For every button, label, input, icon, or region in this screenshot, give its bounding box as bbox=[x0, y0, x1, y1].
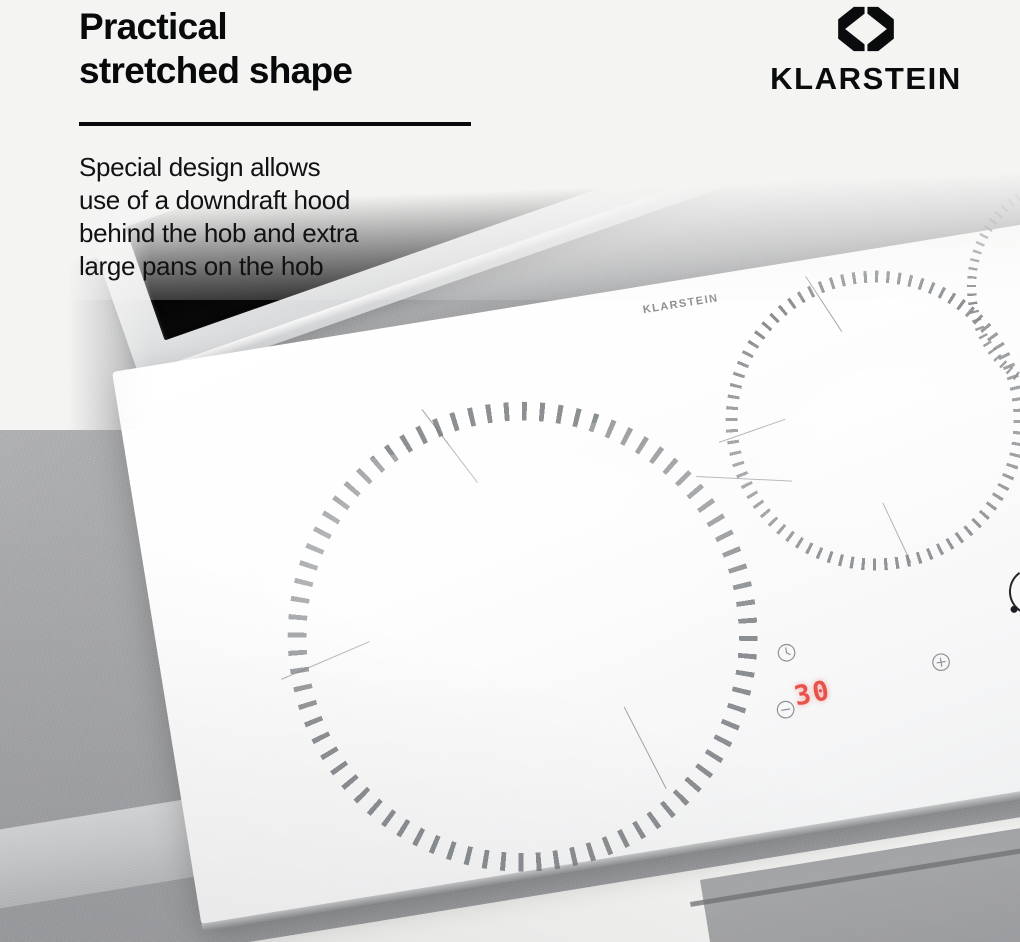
slider-knob[interactable] bbox=[1010, 605, 1018, 613]
speed-dot bbox=[733, 74, 738, 79]
copy-block: Practical stretched shape Special design… bbox=[79, 0, 549, 283]
zone-tick-ring bbox=[253, 367, 792, 906]
body-text: Special design allows use of a downdraft… bbox=[79, 151, 549, 283]
brand-logo: KLARSTEIN bbox=[756, 6, 976, 97]
brand-name: KLARSTEIN bbox=[756, 61, 976, 97]
hob-control-panel[interactable]: 30 bbox=[757, 533, 1020, 789]
hob-brand-print: KLARSTEIN bbox=[642, 292, 719, 316]
klarstein-octagon-icon bbox=[837, 6, 895, 52]
timer-icon[interactable] bbox=[775, 648, 804, 669]
page-title: Practical stretched shape bbox=[79, 0, 549, 93]
marketing-image: KLARSTEIN bbox=[0, 0, 1020, 942]
plus-icon[interactable] bbox=[930, 658, 959, 679]
zone-slider-upper[interactable] bbox=[1005, 564, 1020, 619]
title-divider bbox=[79, 122, 471, 126]
cooking-zone-front-left bbox=[253, 367, 792, 906]
timer-display: 30 bbox=[792, 675, 834, 713]
timer-icon[interactable] bbox=[688, 79, 710, 101]
speed-dot bbox=[747, 69, 752, 74]
light-icon[interactable] bbox=[653, 91, 675, 113]
